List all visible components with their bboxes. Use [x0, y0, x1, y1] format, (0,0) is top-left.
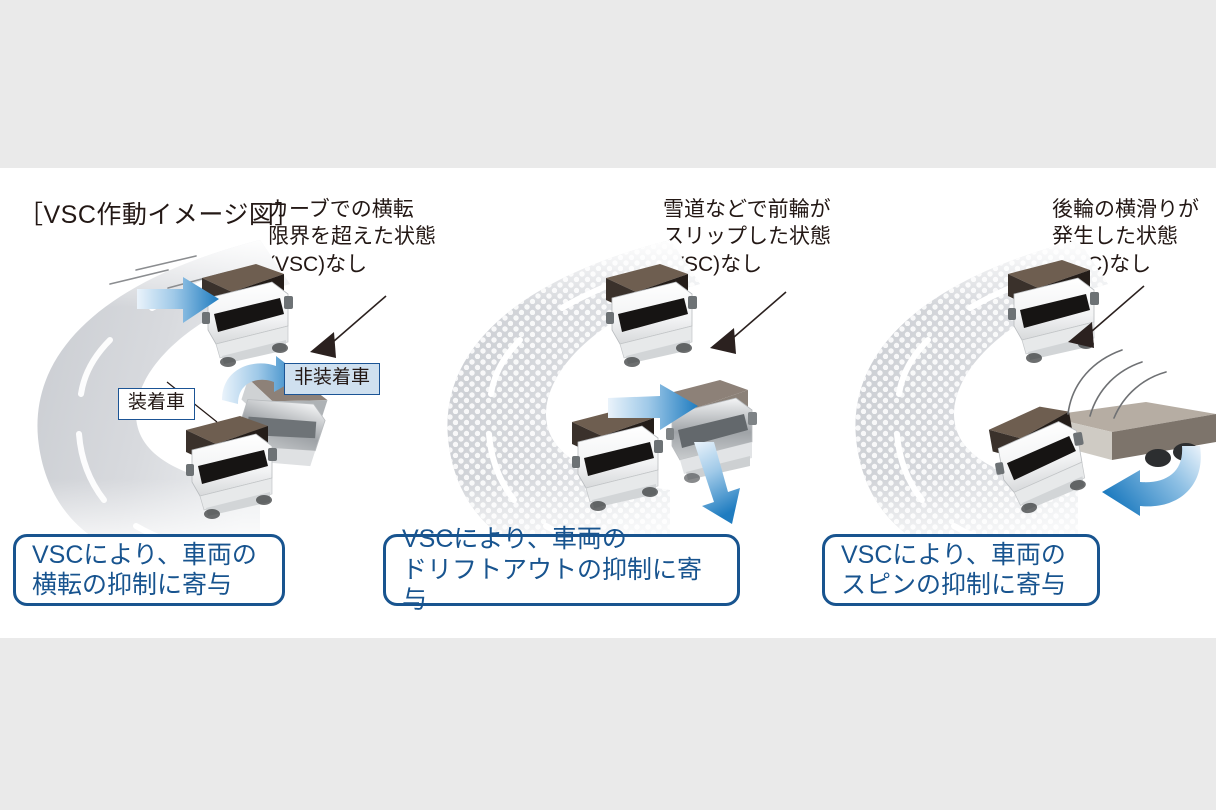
pointer-arrow-rollover [290, 292, 390, 368]
top-margin-band [0, 0, 1216, 168]
result-box-spin: VSCにより、車両の スピンの抑制に寄与 [822, 534, 1100, 606]
result-box-drift-out: VSCにより、車両の ドリフトアウトの抑制に寄与 [383, 534, 740, 606]
drift-out-arrow-down [688, 440, 750, 526]
result-text-drift-out: VSCにより、車両の ドリフトアウトの抑制に寄与 [386, 524, 737, 616]
pointer-arrow-drift-out [690, 288, 790, 364]
panel-spin [808, 168, 1216, 538]
callout-equipped-vehicle: 装着車 [118, 388, 195, 420]
result-text-rollover: VSCにより、車両の 横転の抑制に寄与 [16, 540, 273, 601]
result-box-rollover: VSCにより、車両の 横転の抑制に寄与 [13, 534, 285, 606]
force-arrow-lateral [135, 273, 221, 329]
diagram-stage: ［VSC作動イメージ図］ カーブでの横転 限界を超えた状態 (VSC)なし 雪道… [0, 0, 1216, 810]
force-arrow-lateral [606, 380, 702, 436]
spin-arrow-curved [1096, 444, 1206, 518]
truck-upper [592, 252, 704, 370]
result-text-spin: VSCにより、車両の スピンの抑制に寄与 [825, 540, 1082, 601]
bottom-margin-band [0, 638, 1216, 810]
pointer-arrow-spin [1048, 282, 1148, 358]
